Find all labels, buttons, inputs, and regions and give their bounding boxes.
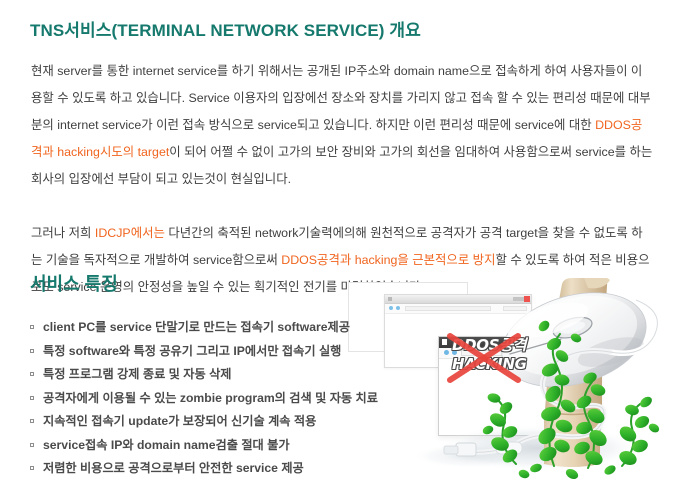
intro-paragraph-1: 현재 server를 통한 internet service를 하기 위해서는 … <box>31 58 653 193</box>
bullet-square-icon <box>30 349 34 353</box>
bullet-square-icon <box>30 443 34 447</box>
body-text: 현재 server를 통한 internet service를 하기 위해서는 … <box>31 64 651 132</box>
mouse-plant-graphic <box>348 278 680 500</box>
list-item-label: service접속 IP와 domain name검출 절대 불가 <box>43 438 290 452</box>
list-item-label: 공격자에게 이용될 수 있는 zombie program의 검색 및 자동 치… <box>43 391 378 405</box>
bullet-square-icon <box>30 325 34 329</box>
intro-text-block: 현재 server를 통한 internet service를 하기 위해서는 … <box>31 58 653 301</box>
page-title: TNS서비스(TERMINAL NETWORK SERVICE) 개요 <box>30 16 421 41</box>
highlighted-text: DDOS공격과 hacking을 근본적으로 방지 <box>281 253 495 267</box>
list-item-label: 특정 프로그램 강제 종료 및 자동 삭제 <box>43 367 232 381</box>
list-item: service접속 IP와 domain name검출 절대 불가 <box>30 434 360 458</box>
list-item-label: 저렴한 비용으로 공격으로부터 안전한 service 제공 <box>43 461 304 475</box>
features-list: client PC를 service 단말기로 만드는 접속기 software… <box>30 316 360 481</box>
body-text: 그러나 저희 <box>31 226 95 240</box>
security-illustration: DDOS공격 HACKING <box>348 278 680 500</box>
list-item: 지속적인 접속기 update가 보장되어 신기술 계속 적용 <box>30 410 360 434</box>
list-item-label: 지속적인 접속기 update가 보장되어 신기술 계속 적용 <box>43 414 316 428</box>
features-heading: 서비스 특징 <box>30 270 118 296</box>
list-item: 저렴한 비용으로 공격으로부터 안전한 service 제공 <box>30 457 360 481</box>
list-item-label: client PC를 service 단말기로 만드는 접속기 software… <box>43 320 350 334</box>
bullet-square-icon <box>30 396 34 400</box>
list-item-label: 특정 software와 특정 공유기 그리고 IP에서만 접속기 실행 <box>43 344 341 358</box>
bullet-square-icon <box>30 466 34 470</box>
ddos-hacking-stamp: DDOS공격 HACKING <box>452 336 514 382</box>
bullet-square-icon <box>30 372 34 376</box>
list-item: 공격자에게 이용될 수 있는 zombie program의 검색 및 자동 치… <box>30 387 360 411</box>
highlighted-text: IDCJP에서는 <box>95 226 165 240</box>
list-item: 특정 software와 특정 공유기 그리고 IP에서만 접속기 실행 <box>30 340 360 364</box>
list-item: client PC를 service 단말기로 만드는 접속기 software… <box>30 316 360 340</box>
bullet-square-icon <box>30 419 34 423</box>
stamp-line-1: DDOS공격 <box>452 336 514 355</box>
list-item: 특정 프로그램 강제 종료 및 자동 삭제 <box>30 363 360 387</box>
stamp-line-2: HACKING <box>452 355 514 374</box>
